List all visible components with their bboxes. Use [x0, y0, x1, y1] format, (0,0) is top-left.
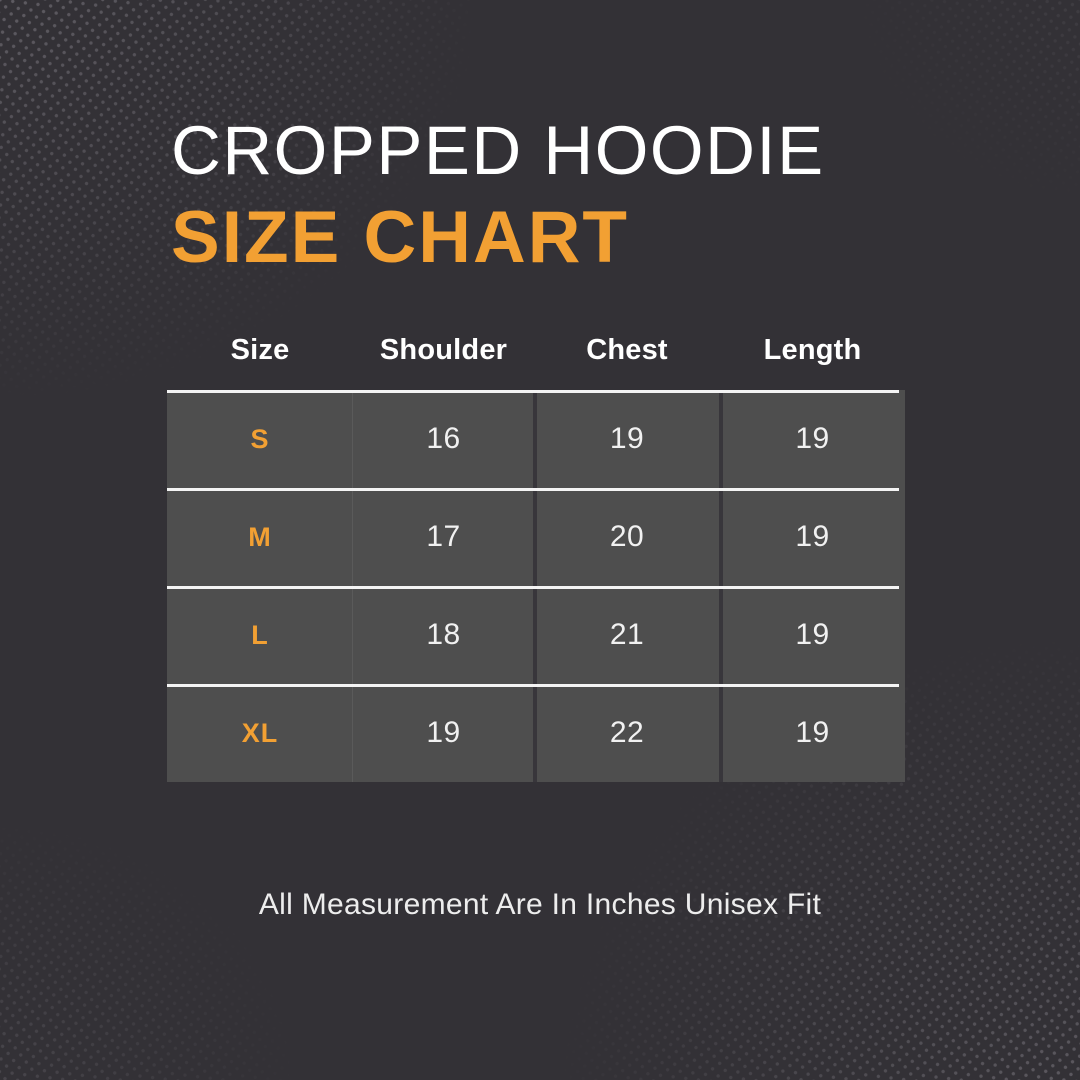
- table-body: S 16 19 19 M 17 20 19 L 18 21 19 XL 19 2…: [167, 390, 905, 782]
- cell-length: 19: [720, 520, 905, 554]
- cell-length: 19: [720, 422, 905, 456]
- title-line-size-chart: SIZE CHART: [171, 194, 971, 282]
- table-row: L 18 21 19: [167, 586, 905, 684]
- table-header-row: Size Shoulder Chest Length: [167, 310, 905, 390]
- cell-size: XL: [167, 718, 353, 749]
- cell-chest: 19: [534, 422, 720, 456]
- column-header-length: Length: [720, 334, 905, 367]
- cell-shoulder: 16: [353, 422, 534, 456]
- table-row: XL 19 22 19: [167, 684, 905, 782]
- cell-size: S: [167, 424, 353, 455]
- column-header-shoulder: Shoulder: [353, 334, 534, 367]
- cell-chest: 21: [534, 618, 720, 652]
- cell-size: L: [167, 620, 353, 651]
- footer-note: All Measurement Are In Inches Unisex Fit: [0, 888, 1080, 922]
- cell-shoulder: 19: [353, 716, 534, 750]
- cell-size: M: [167, 522, 353, 553]
- column-header-chest: Chest: [534, 334, 720, 367]
- page-title: CROPPED HOODIE SIZE CHART: [171, 108, 971, 282]
- halftone-texture-bottom-left: [0, 780, 350, 1080]
- cell-length: 19: [720, 618, 905, 652]
- table-row: M 17 20 19: [167, 488, 905, 586]
- column-header-size: Size: [167, 334, 353, 367]
- cell-shoulder: 18: [353, 618, 534, 652]
- size-chart-page: CROPPED HOODIE SIZE CHART Size Shoulder …: [0, 0, 1080, 1080]
- cell-chest: 20: [534, 520, 720, 554]
- title-line-product: CROPPED HOODIE: [171, 108, 971, 194]
- size-table: Size Shoulder Chest Length S 16 19 19 M …: [167, 310, 905, 782]
- table-row: S 16 19 19: [167, 390, 905, 488]
- cell-shoulder: 17: [353, 520, 534, 554]
- cell-length: 19: [720, 716, 905, 750]
- cell-chest: 22: [534, 716, 720, 750]
